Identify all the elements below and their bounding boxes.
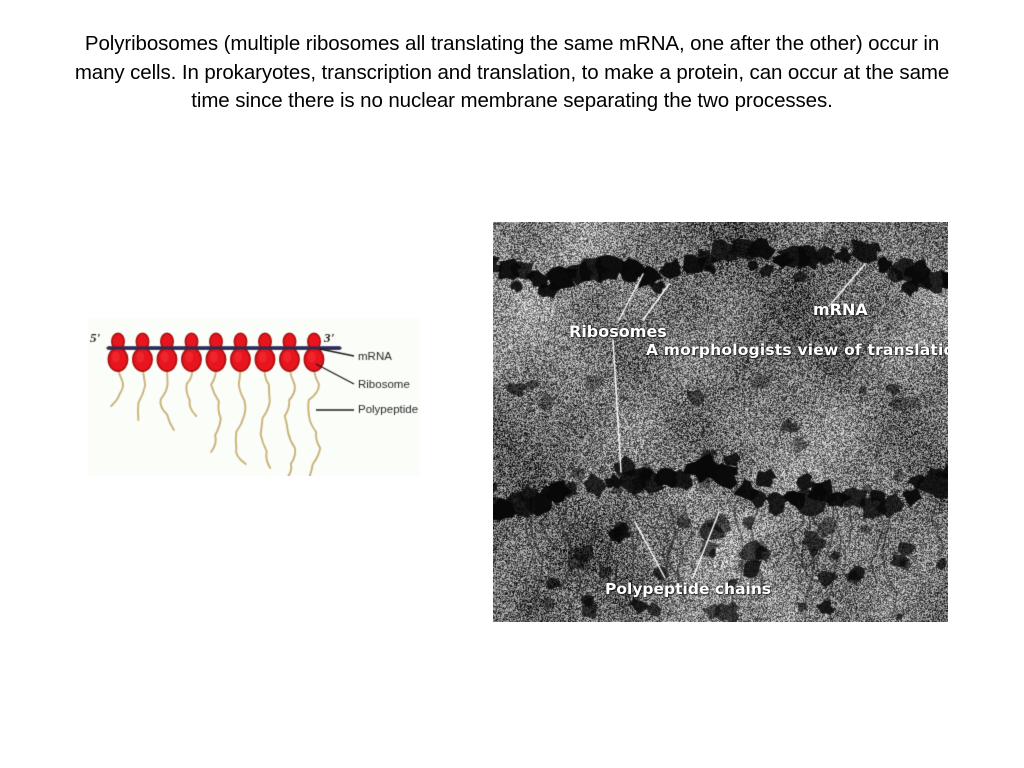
electron-micrograph-canvas — [493, 222, 948, 622]
slide-title: Polyribosomes (multiple ribosomes all tr… — [62, 30, 962, 116]
electron-micrograph: Ribosomes mRNA A morphologists view of t… — [493, 222, 948, 622]
polyribosome-diagram — [88, 318, 420, 476]
polyribosome-diagram-canvas — [88, 318, 420, 476]
